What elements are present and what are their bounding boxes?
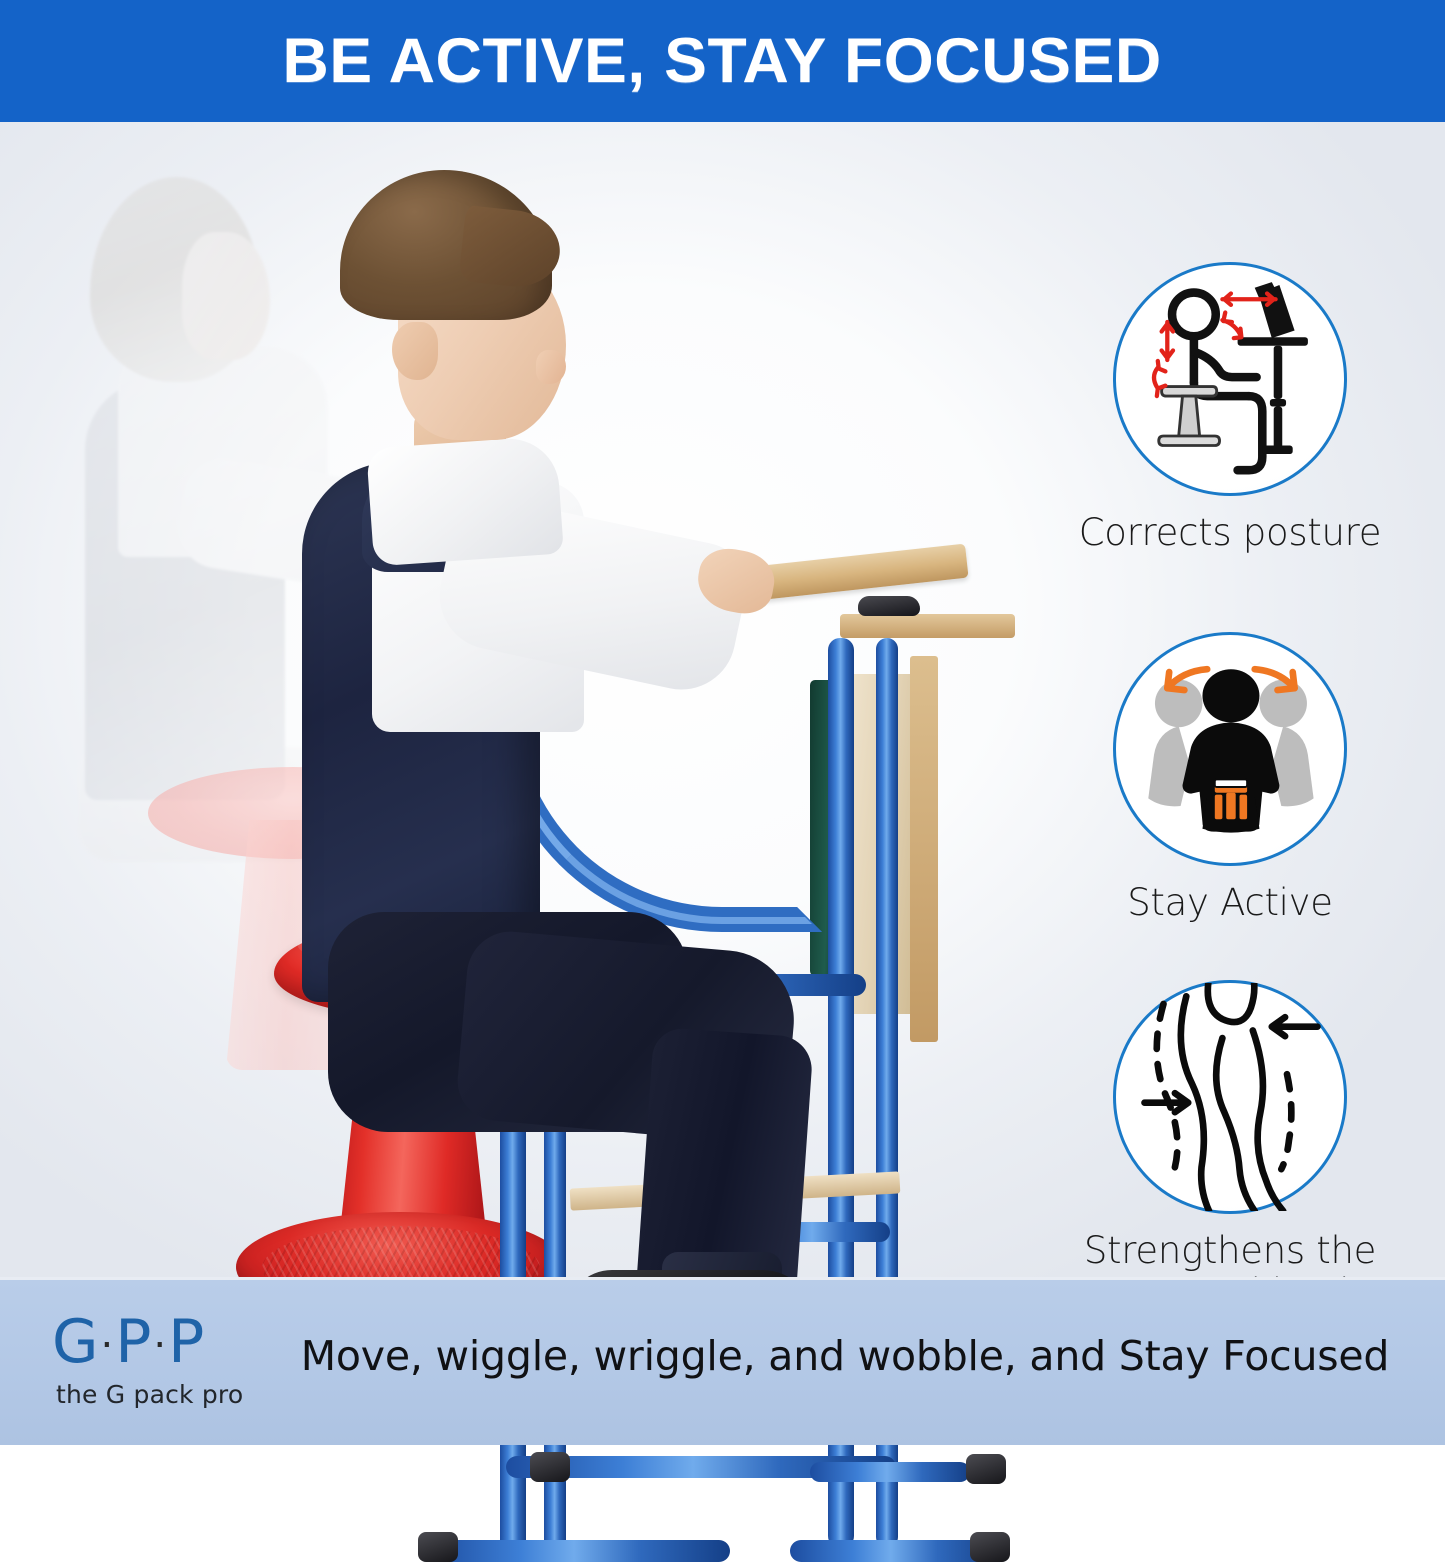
desk-top-front-edge [840, 614, 1015, 638]
ghost-face [182, 232, 270, 360]
logo-tagline: the G pack pro [56, 1380, 282, 1409]
feature-circle [1113, 262, 1347, 496]
stool-glyph [1159, 387, 1220, 446]
header-banner: BE ACTIVE, STAY FOCUSED [0, 0, 1445, 122]
stool-glyph [1215, 785, 1247, 819]
desk-foot-cap [966, 1454, 1006, 1484]
desk-side-panel-edge [910, 656, 938, 1042]
desk-foot-cap [418, 1532, 458, 1562]
feature-list: Corrects posture [1030, 262, 1430, 1392]
logo-dot: · [153, 1322, 168, 1368]
page-title: BE ACTIVE, STAY FOCUSED [283, 25, 1162, 97]
brand-logo: G·P·P the G pack pro [52, 1312, 282, 1409]
desk-foot-rail-bottom [790, 1540, 1000, 1562]
feature-item-corrects-posture: Corrects posture [1030, 262, 1430, 554]
logo-dot: · [101, 1322, 116, 1368]
feature-label: Corrects posture [1030, 512, 1430, 554]
feature-circle [1113, 632, 1347, 866]
feature-label: Stay Active [1030, 882, 1430, 924]
boy-shirt-collar [366, 436, 564, 567]
person-at-adjustable-desk-icon [1116, 265, 1344, 493]
desk-foot-rail-rear [810, 1462, 970, 1482]
boy-ear [392, 322, 438, 380]
boy-figure [266, 152, 826, 1272]
product-photo [30, 142, 1020, 1272]
logo-letter-g: G [52, 1307, 101, 1377]
logo-mark: G·P·P [52, 1312, 282, 1372]
footer-bar: G·P·P the G pack pro Move, wiggle, wrigg… [0, 1277, 1445, 1445]
feature-item-strengthens-core-back: Strengthens the core and back [1030, 980, 1430, 1314]
desk-foot-rail-front [430, 1540, 730, 1562]
logo-letter-p1: P [115, 1307, 153, 1377]
main-stage: Corrects posture [0, 122, 1445, 1277]
person-wobbling-side-to-side-icon [1116, 635, 1344, 863]
footer-tagline: Move, wiggle, wriggle, and wobble, and S… [300, 1332, 1390, 1380]
spine-posture-alignment-icon [1116, 983, 1344, 1211]
feature-label-line-1: Strengthens the [1030, 1230, 1430, 1272]
desk-foot-cap [530, 1452, 570, 1482]
feature-circle [1113, 980, 1347, 1214]
feature-item-stay-active: Stay Active [1030, 632, 1430, 924]
logo-letter-p2: P [168, 1307, 206, 1377]
desk-foot-cap [970, 1532, 1010, 1562]
boy-nose [536, 350, 566, 384]
desk-clip [858, 596, 920, 616]
